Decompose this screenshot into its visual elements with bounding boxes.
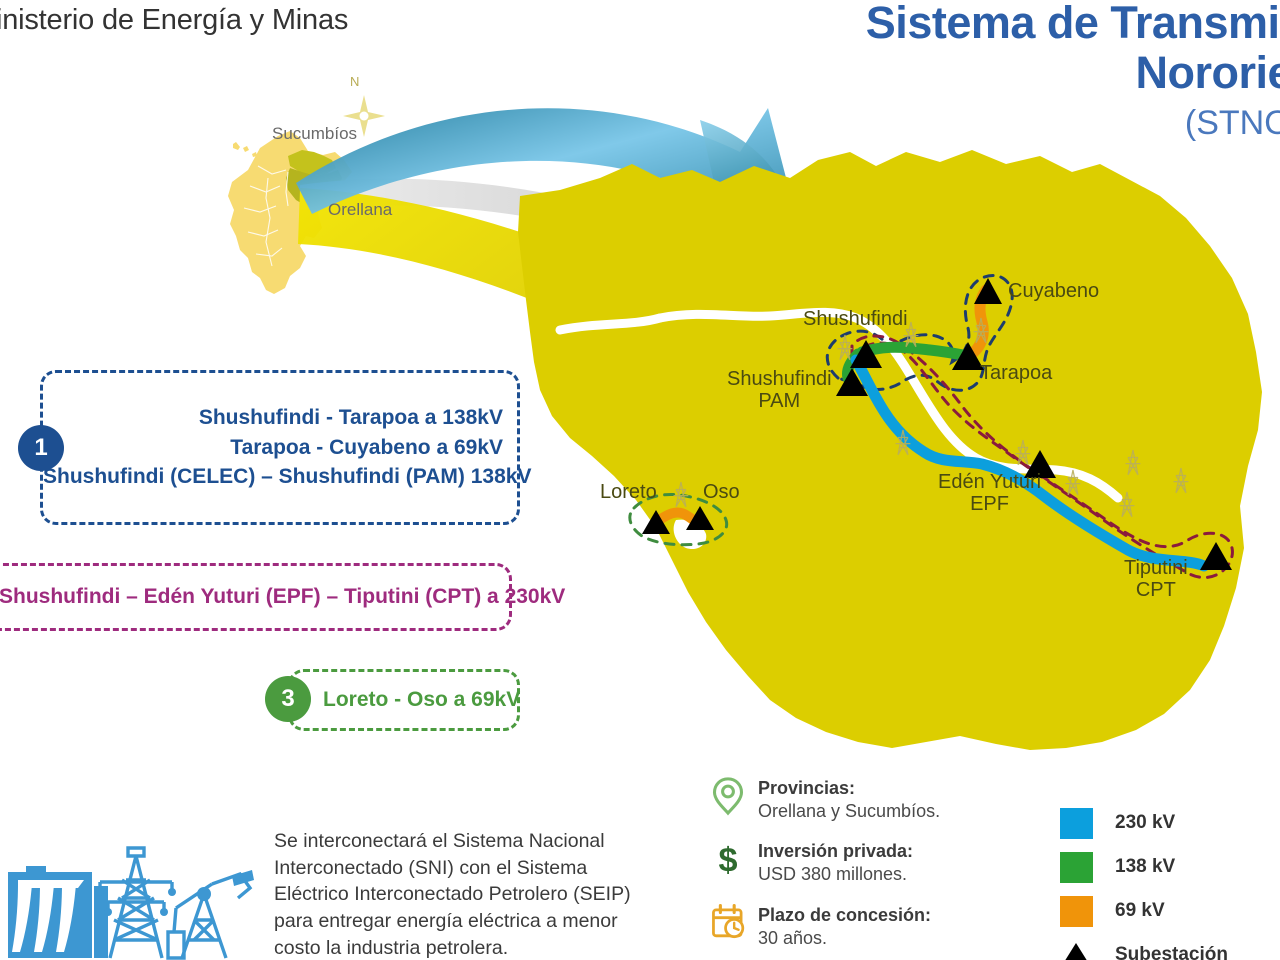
legend-box-2-lines: Shushufindi – Edén Yuturi (EPF) – Tiputi… — [0, 582, 509, 612]
fact-plazo-label: Plazo de concesión: — [758, 904, 931, 927]
map-label-shushufindi-pam: Shushufindi PAM — [727, 368, 832, 413]
pylon-icons — [674, 318, 1189, 517]
main-region-map — [518, 150, 1262, 750]
map-label-oso: Oso — [703, 481, 740, 503]
color-swatch-138kv — [1060, 852, 1093, 883]
map-label-tiputini: Tiputini CPT — [1124, 557, 1188, 602]
map-label-eden-yuturi-line2: EPF — [938, 493, 1041, 515]
legend-box-2[interactable]: Shushufindi – Edén Yuturi (EPF) – Tiputi… — [0, 563, 512, 631]
map-label-shushufindi: Shushufindi — [803, 308, 908, 330]
map-label-eden-yuturi: Edén Yuturi EPF — [938, 471, 1041, 516]
legend-box-3-lines: Loreto - Oso a 69kV — [291, 685, 517, 715]
page-subtitle: (STNO) — [1185, 104, 1280, 143]
legend-number-1: 1 — [18, 425, 64, 471]
calendar-clock-icon — [710, 903, 758, 949]
substation-markers — [642, 278, 1232, 570]
map-label-cuyabeno: Cuyabeno — [1008, 280, 1099, 302]
blue-sweep-arrow — [296, 108, 800, 242]
dollar-sign-icon: $ — [710, 839, 758, 885]
map-label-tiputini-line1: Tiputini — [1124, 557, 1188, 579]
page-title-line1: Sistema de Transmisión — [866, 0, 1280, 48]
voltage-legend-row-69: 69 kV — [1060, 894, 1228, 928]
fact-plazo-body: Plazo de concesión: 30 años. — [758, 903, 931, 950]
voltage-legend-row-substation: Subestación — [1060, 938, 1228, 960]
voltage-legend: 230 kV 138 kV 69 kV Subestación — [1060, 806, 1228, 960]
legend-box-3-line-1: Loreto - Oso a 69kV — [323, 685, 517, 715]
inset-label-sucumbios: Sucumbíos — [272, 124, 357, 144]
triangle-icon — [1060, 940, 1093, 960]
grey-sweep-arrow — [300, 179, 700, 262]
fact-inversion-value: USD 380 millones. — [758, 863, 913, 886]
page-title: Sistema de Transmisión Nororiental — [866, 0, 1280, 99]
map-label-tiputini-line2: CPT — [1124, 579, 1188, 601]
fact-inversion: $ Inversión privada: USD 380 millones. — [710, 839, 1040, 886]
facts-list: Provincias: Orellana y Sucumbíos. $ Inve… — [710, 776, 1040, 960]
map-label-loreto: Loreto — [600, 481, 657, 503]
fact-plazo-value: 30 años. — [758, 927, 931, 950]
location-pin-icon — [710, 776, 758, 822]
ministry-title: Ministerio de Energía y Minas — [0, 4, 348, 37]
map-label-shushufindi-pam-line1: Shushufindi — [727, 368, 832, 390]
legend-box-1[interactable]: Shushufindi - Tarapoa a 138kV Tarapoa - … — [40, 370, 520, 525]
fact-provincias-body: Provincias: Orellana y Sucumbíos. — [758, 776, 940, 823]
compass-north-label: N — [350, 74, 359, 89]
legend-number-3: 3 — [265, 676, 311, 722]
color-swatch-69kv — [1060, 896, 1093, 927]
legend-box-2-line-1: Shushufindi – Edén Yuturi (EPF) – Tiputi… — [0, 582, 509, 612]
page-title-line2: Nororiental — [866, 48, 1280, 98]
voltage-legend-label-230: 230 kV — [1115, 812, 1175, 834]
map-label-eden-yuturi-line1: Edén Yuturi — [938, 471, 1041, 493]
legend-box-3[interactable]: Loreto - Oso a 69kV — [288, 669, 520, 731]
legend-box-1-line-2: Tarapoa - Cuyabeno a 69kV — [43, 433, 503, 463]
voltage-legend-row-230: 230 kV — [1060, 806, 1228, 840]
power-and-oil-icon — [2, 836, 257, 960]
infographic-page: Ministerio de Energía y Minas Sistema de… — [0, 0, 1280, 960]
fact-plazo: Plazo de concesión: 30 años. — [710, 903, 1040, 950]
legend-box-1-line-3: Shushufindi (CELEC) – Shushufindi (PAM) … — [43, 462, 503, 492]
inset-label-orellana: Orellana — [328, 200, 392, 220]
voltage-legend-label-138: 138 kV — [1115, 856, 1175, 878]
map-label-tarapoa: Tarapoa — [980, 362, 1052, 384]
voltage-legend-row-138: 138 kV — [1060, 850, 1228, 884]
map-label-shushufindi-pam-line2: PAM — [727, 390, 832, 412]
fact-inversion-label: Inversión privada: — [758, 840, 913, 863]
fact-provincias: Provincias: Orellana y Sucumbíos. — [710, 776, 1040, 823]
description-text: Se interconectará el Sistema Nacional In… — [274, 828, 654, 960]
voltage-legend-label-substation: Subestación — [1115, 944, 1228, 960]
svg-text:$: $ — [718, 842, 737, 879]
fact-provincias-label: Provincias: — [758, 777, 940, 800]
fact-inversion-body: Inversión privada: USD 380 millones. — [758, 839, 913, 886]
color-swatch-230kv — [1060, 808, 1093, 839]
fact-provincias-value: Orellana y Sucumbíos. — [758, 800, 940, 823]
voltage-legend-label-69: 69 kV — [1115, 900, 1165, 922]
legend-box-1-lines: Shushufindi - Tarapoa a 138kV Tarapoa - … — [43, 403, 517, 492]
legend-box-1-line-1: Shushufindi - Tarapoa a 138kV — [43, 403, 503, 433]
